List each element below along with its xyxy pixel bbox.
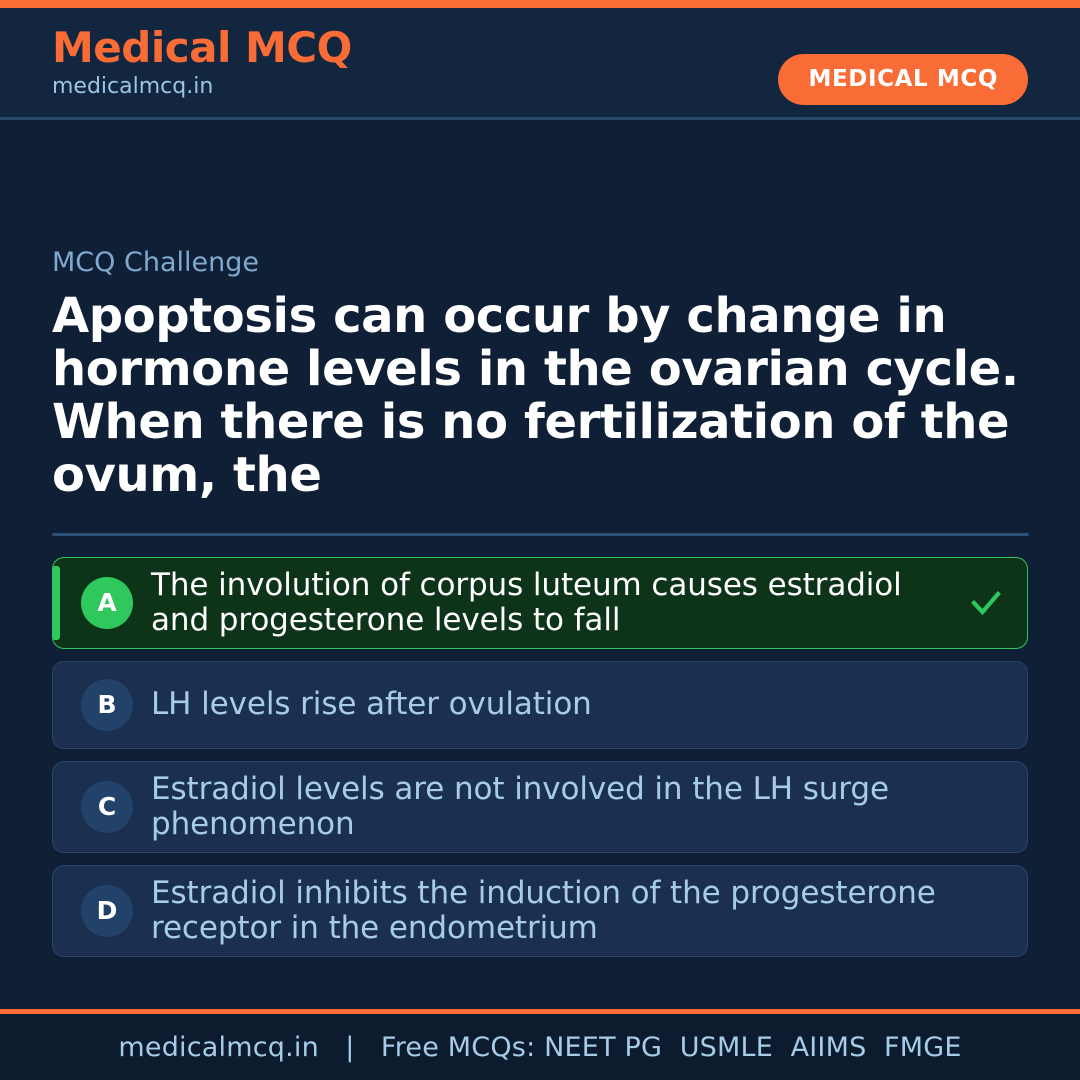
option-row-d[interactable]: D Estradiol inhibits the induction of th… — [52, 865, 1028, 957]
brand-block: Medical MCQ medicalmcq.in — [52, 26, 352, 99]
option-text-c: Estradiol levels are not involved in the… — [151, 772, 965, 842]
question-body: MCQ Challenge Apoptosis can occur by cha… — [0, 120, 1080, 1009]
option-letter-badge-d: D — [81, 885, 133, 937]
footer-bar: medicalmcq.in | Free MCQs: NEET PG USMLE… — [0, 1009, 1080, 1080]
option-letter-badge-c: C — [81, 781, 133, 833]
options-list: A The involution of corpus luteum causes… — [52, 557, 1028, 957]
check-icon — [969, 586, 1003, 620]
header-bar: Medical MCQ medicalmcq.in MEDICAL MCQ — [0, 8, 1080, 120]
eyebrow-label: MCQ Challenge — [52, 248, 1028, 278]
option-letter-badge-b: B — [81, 679, 133, 731]
top-accent-rule — [0, 0, 1080, 8]
question-text: Apoptosis can occur by change in hormone… — [52, 290, 1028, 503]
option-text-d: Estradiol inhibits the induction of the … — [151, 876, 965, 946]
option-row-a[interactable]: A The involution of corpus luteum causes… — [52, 557, 1028, 649]
mcq-card: Medical MCQ medicalmcq.in MEDICAL MCQ MC… — [0, 0, 1080, 1080]
option-letter-badge-a: A — [81, 577, 133, 629]
brand-title: Medical MCQ — [52, 26, 352, 70]
question-divider — [52, 533, 1029, 536]
option-text-b: LH levels rise after ovulation — [151, 687, 592, 722]
header-badge: MEDICAL MCQ — [778, 54, 1028, 105]
footer-text: medicalmcq.in | Free MCQs: NEET PG USMLE… — [118, 1032, 961, 1063]
option-row-b[interactable]: B LH levels rise after ovulation — [52, 661, 1028, 749]
brand-subtitle: medicalmcq.in — [52, 75, 352, 99]
option-row-c[interactable]: C Estradiol levels are not involved in t… — [52, 761, 1028, 853]
option-text-a: The involution of corpus luteum causes e… — [151, 568, 965, 638]
